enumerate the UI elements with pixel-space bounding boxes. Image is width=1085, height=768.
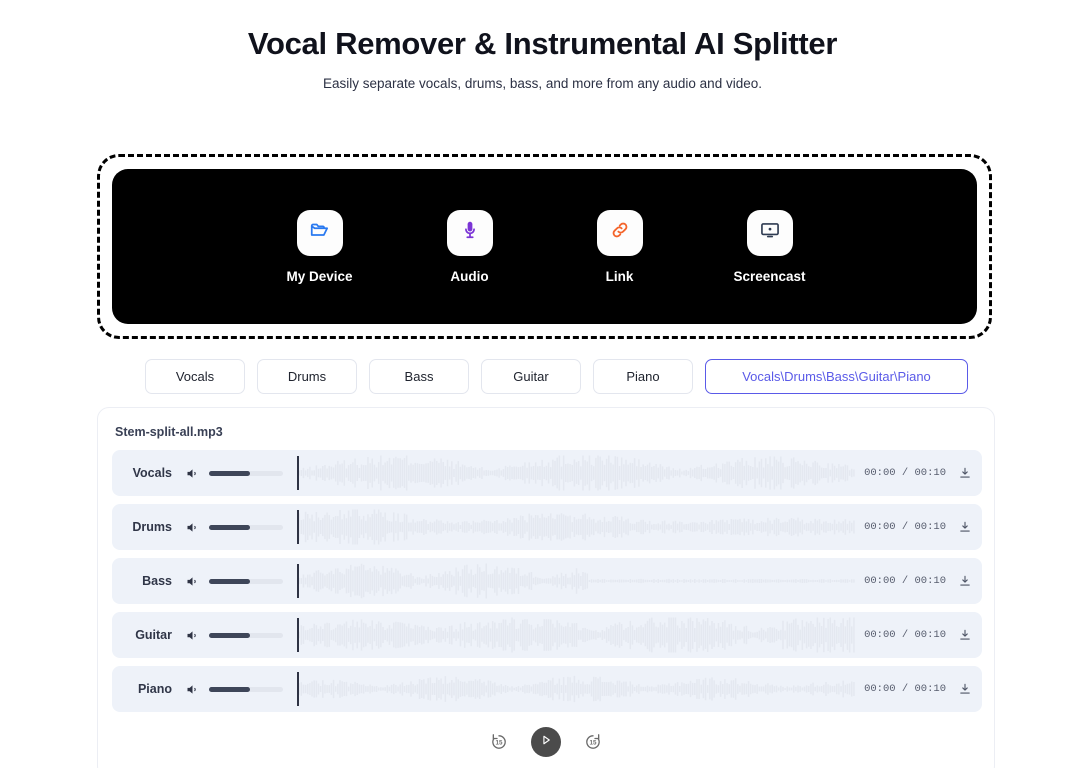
tab-label: Guitar xyxy=(513,369,548,384)
tab-label: Vocals\Drums\Bass\Guitar\Piano xyxy=(742,369,931,384)
tab-piano[interactable]: Piano xyxy=(593,359,693,394)
volume-slider[interactable] xyxy=(209,525,283,530)
volume-slider-fill xyxy=(209,471,250,476)
upload-option-link[interactable]: Link xyxy=(570,210,670,284)
upload-tile xyxy=(297,210,343,256)
microphone-icon xyxy=(459,219,481,246)
upload-tile xyxy=(747,210,793,256)
tab-label: Piano xyxy=(626,369,659,384)
track-time: 00:00 / 00:10 xyxy=(864,629,946,641)
track-row: Guitar 00:00 / 00:10 xyxy=(112,612,982,658)
track-row: Vocals 00:00 / 00:10 xyxy=(112,450,982,496)
track-row: Bass 00:00 / 00:10 xyxy=(112,558,982,604)
speaker-icon[interactable] xyxy=(185,466,200,481)
download-icon[interactable] xyxy=(958,628,972,642)
volume-slider-fill xyxy=(209,633,250,638)
download-icon[interactable] xyxy=(958,520,972,534)
waveform-graphic xyxy=(297,670,856,708)
upload-option-my-device[interactable]: My Device xyxy=(270,210,370,284)
upload-option-screencast[interactable]: Screencast xyxy=(720,210,820,284)
playhead[interactable] xyxy=(297,564,299,598)
upload-options-row: My Device Audio xyxy=(112,169,977,324)
play-button[interactable] xyxy=(531,727,561,757)
waveform-graphic xyxy=(297,508,856,546)
monitor-icon xyxy=(759,219,781,246)
download-icon[interactable] xyxy=(958,682,972,696)
download-icon[interactable] xyxy=(958,466,972,480)
tab-bass[interactable]: Bass xyxy=(369,359,469,394)
forward-15-icon[interactable]: 15 xyxy=(583,732,603,752)
waveform-graphic xyxy=(297,562,856,600)
rewind-amount-label: 15 xyxy=(496,739,503,746)
upload-option-audio[interactable]: Audio xyxy=(420,210,520,284)
upload-dropzone[interactable]: My Device Audio xyxy=(97,154,992,339)
stem-tabs: Vocals Drums Bass Guitar Piano Vocals\Dr… xyxy=(145,359,968,394)
track-row: Piano 00:00 / 00:10 xyxy=(112,666,982,712)
upload-option-label: Audio xyxy=(450,269,488,284)
track-time: 00:00 / 00:10 xyxy=(864,467,946,479)
play-icon xyxy=(539,733,553,752)
tab-label: Vocals xyxy=(176,369,214,384)
transport-controls: 15 15 xyxy=(98,727,994,757)
page-title: Vocal Remover & Instrumental AI Splitter xyxy=(243,26,843,62)
volume-slider[interactable] xyxy=(209,579,283,584)
volume-slider[interactable] xyxy=(209,687,283,692)
waveform-graphic xyxy=(297,616,856,654)
tab-label: Bass xyxy=(405,369,434,384)
tab-drums[interactable]: Drums xyxy=(257,359,357,394)
file-name: Stem-split-all.mp3 xyxy=(115,425,223,439)
track-label: Drums xyxy=(112,520,174,534)
upload-tile xyxy=(447,210,493,256)
speaker-icon[interactable] xyxy=(185,520,200,535)
track-time: 00:00 / 00:10 xyxy=(864,521,946,533)
speaker-icon[interactable] xyxy=(185,574,200,589)
volume-slider-fill xyxy=(209,579,250,584)
track-list: Vocals 00:00 / 00:10 Drums xyxy=(112,450,982,720)
rewind-15-icon[interactable]: 15 xyxy=(489,732,509,752)
download-icon[interactable] xyxy=(958,574,972,588)
speaker-icon[interactable] xyxy=(185,628,200,643)
track-label: Bass xyxy=(112,574,174,588)
volume-slider[interactable] xyxy=(209,471,283,476)
playhead[interactable] xyxy=(297,456,299,490)
volume-slider-fill xyxy=(209,525,250,530)
player-card: Stem-split-all.mp3 Vocals 00:00 / 00:10 … xyxy=(97,407,995,768)
playhead[interactable] xyxy=(297,672,299,706)
volume-slider[interactable] xyxy=(209,633,283,638)
track-label: Guitar xyxy=(112,628,174,642)
waveform[interactable] xyxy=(297,454,856,492)
upload-option-label: Screencast xyxy=(733,269,805,284)
waveform[interactable] xyxy=(297,670,856,708)
upload-tile xyxy=(597,210,643,256)
waveform[interactable] xyxy=(297,616,856,654)
track-time: 00:00 / 00:10 xyxy=(864,683,946,695)
playhead[interactable] xyxy=(297,510,299,544)
track-row: Drums 00:00 / 00:10 xyxy=(112,504,982,550)
playhead[interactable] xyxy=(297,618,299,652)
tab-guitar[interactable]: Guitar xyxy=(481,359,581,394)
speaker-icon[interactable] xyxy=(185,682,200,697)
tab-vocals[interactable]: Vocals xyxy=(145,359,245,394)
upload-option-label: My Device xyxy=(286,269,352,284)
waveform[interactable] xyxy=(297,562,856,600)
waveform[interactable] xyxy=(297,508,856,546)
tab-label: Drums xyxy=(288,369,326,384)
tab-all-stems[interactable]: Vocals\Drums\Bass\Guitar\Piano xyxy=(705,359,968,394)
link-icon xyxy=(609,219,631,246)
track-time: 00:00 / 00:10 xyxy=(864,575,946,587)
track-label: Piano xyxy=(112,682,174,696)
volume-slider-fill xyxy=(209,687,250,692)
upload-option-label: Link xyxy=(606,269,634,284)
track-label: Vocals xyxy=(112,466,174,480)
waveform-graphic xyxy=(297,454,856,492)
folder-icon xyxy=(309,219,331,246)
page-subtitle: Easily separate vocals, drums, bass, and… xyxy=(0,76,1085,91)
app-page: Vocal Remover & Instrumental AI Splitter… xyxy=(0,26,1085,768)
forward-amount-label: 15 xyxy=(590,739,597,746)
